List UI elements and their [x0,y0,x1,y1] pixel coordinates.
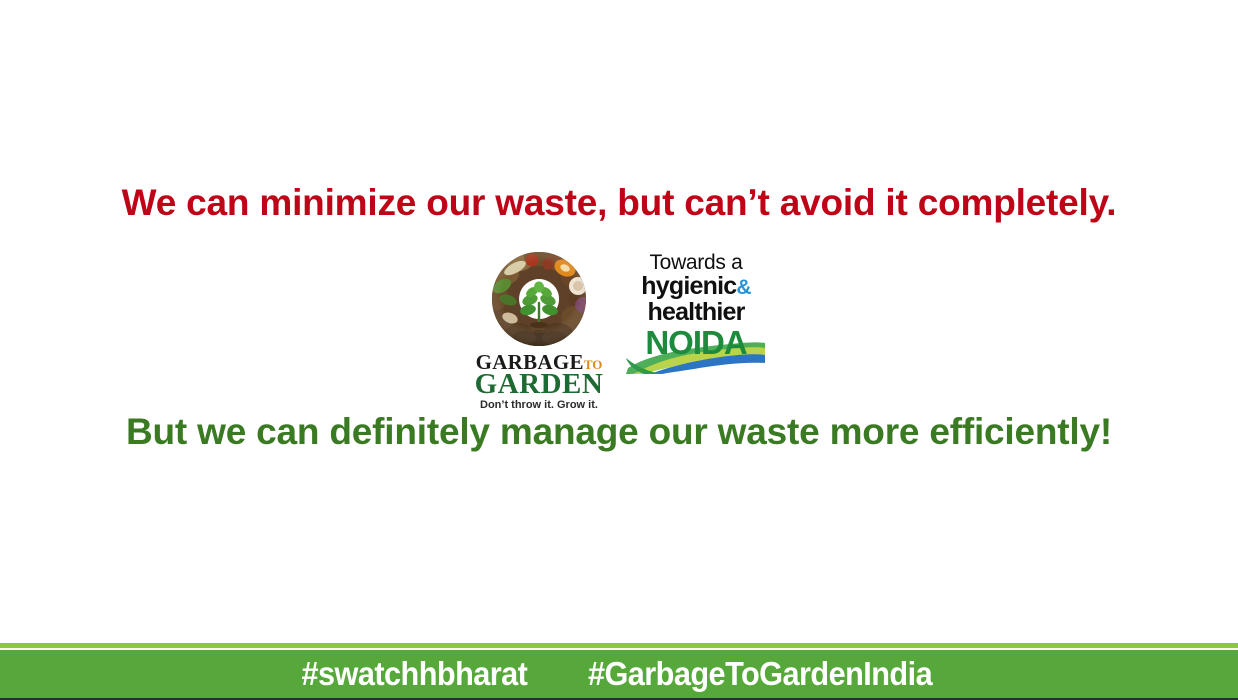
noida-line-healthier: healthier [648,300,745,325]
logo-strip: GARBAGETO GARDEN Don’t throw it. Grow it… [0,248,1238,406]
footer-hashtag-group: #swatchhbharat #GarbageToGardenIndia [0,650,1238,698]
slide-canvas: We can minimize our waste, but can’t avo… [0,0,1238,700]
noida-line-towards: Towards a [649,252,742,274]
noida-brand-mark: NOIDA [626,324,766,374]
noida-logo: Towards a hygienic& healthier NOIDA [623,248,769,374]
gtg-word-garden: GARDEN [475,370,604,399]
footer-band: #swatchhbharat #GarbageToGardenIndia [0,643,1238,700]
noida-brand-text: NOIDA [645,324,747,361]
garbage-to-garden-logo: GARBAGETO GARDEN Don’t throw it. Grow it… [469,248,609,411]
page-title-red: We can minimize our waste, but can’t avo… [0,180,1238,226]
compost-ring-with-seedling-icon [480,248,598,351]
hashtag-garbagetogardenindia[interactable]: #GarbageToGardenIndia [588,657,932,691]
hashtag-swatchhbharat[interactable]: #swatchhbharat [301,657,527,691]
garbage-to-garden-wordmark: GARBAGETO GARDEN Don’t throw it. Grow it… [475,352,604,411]
ampersand-icon: & [736,276,750,299]
noida-line-hygienic: hygienic& [641,274,750,300]
page-subtitle-green: But we can definitely manage our waste m… [0,409,1238,455]
